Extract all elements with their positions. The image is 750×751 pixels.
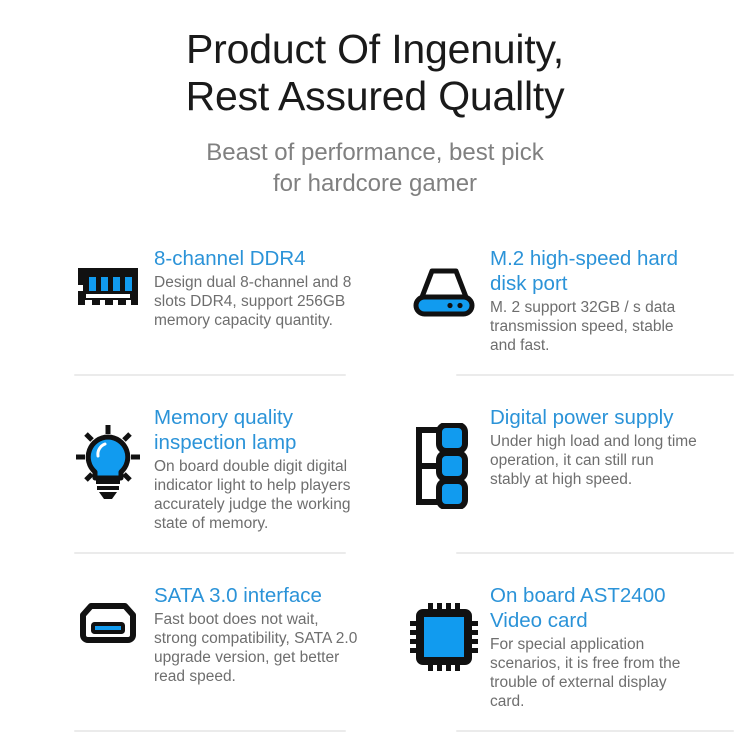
feature-card-video-card: On board AST2400 Video card For special … <box>380 573 698 711</box>
divider-row <box>62 355 698 395</box>
feature-description: Fast boot does not wait, strong compatib… <box>154 610 360 686</box>
feature-title: 8-channel DDR4 <box>154 246 360 271</box>
feature-row: Memory quality inspection lamp On board … <box>62 395 698 533</box>
page-subtitle-line-1: Beast of performance, best pick <box>0 137 750 168</box>
feature-title: M.2 high-speed hard disk port <box>490 246 698 296</box>
feature-description: M. 2 support 32GB / s data transmission … <box>490 298 698 355</box>
feature-title: On board AST2400 Video card <box>490 583 698 633</box>
infographic-page: Product Of Ingenuity, Rest Assured Quall… <box>0 0 750 750</box>
header: Product Of Ingenuity, Rest Assured Quall… <box>0 0 750 199</box>
lightbulb-icon <box>62 395 154 503</box>
feature-title: Memory quality inspection lamp <box>154 405 360 455</box>
feature-title: Digital power supply <box>490 405 698 430</box>
feature-title: SATA 3.0 interface <box>154 583 360 608</box>
page-title: Product Of Ingenuity, Rest Assured Quall… <box>0 26 750 120</box>
section-divider <box>74 730 346 732</box>
page-subtitle: Beast of performance, best pick for hard… <box>0 137 750 199</box>
power-supply-icon <box>398 395 490 509</box>
feature-row: SATA 3.0 interface Fast boot does not wa… <box>62 573 698 711</box>
feature-description: For special application scenarios, it is… <box>490 635 698 711</box>
page-subtitle-line-2: for hardcore gamer <box>0 168 750 199</box>
feature-description: On board double digit digital indicator … <box>154 457 360 533</box>
feature-row: 8-channel DDR4 Design dual 8-channel and… <box>62 236 698 355</box>
feature-card-ddr4: 8-channel DDR4 Design dual 8-channel and… <box>62 236 380 355</box>
section-divider <box>74 552 346 554</box>
divider-row <box>62 711 698 751</box>
feature-grid: 8-channel DDR4 Design dual 8-channel and… <box>62 236 698 751</box>
section-divider <box>456 730 734 732</box>
feature-description: Under high load and long time operation,… <box>490 432 698 489</box>
sata-port-icon <box>62 573 154 649</box>
feature-description: Design dual 8-channel and 8 slots DDR4, … <box>154 273 360 330</box>
divider-row <box>62 533 698 573</box>
feature-card-m2: M.2 high-speed hard disk port M. 2 suppo… <box>380 236 698 355</box>
feature-card-inspection-lamp: Memory quality inspection lamp On board … <box>62 395 380 533</box>
hard-disk-icon <box>398 236 490 318</box>
section-divider <box>456 552 734 554</box>
ram-module-icon <box>62 236 154 316</box>
section-divider <box>456 374 734 376</box>
section-divider <box>74 374 346 376</box>
cpu-chip-icon <box>398 573 490 673</box>
feature-card-digital-power: Digital power supply Under high load and… <box>380 395 698 533</box>
page-title-line-1: Product Of Ingenuity, <box>0 26 750 73</box>
page-title-line-2: Rest Assured Quallty <box>0 73 750 120</box>
feature-card-sata: SATA 3.0 interface Fast boot does not wa… <box>62 573 380 711</box>
